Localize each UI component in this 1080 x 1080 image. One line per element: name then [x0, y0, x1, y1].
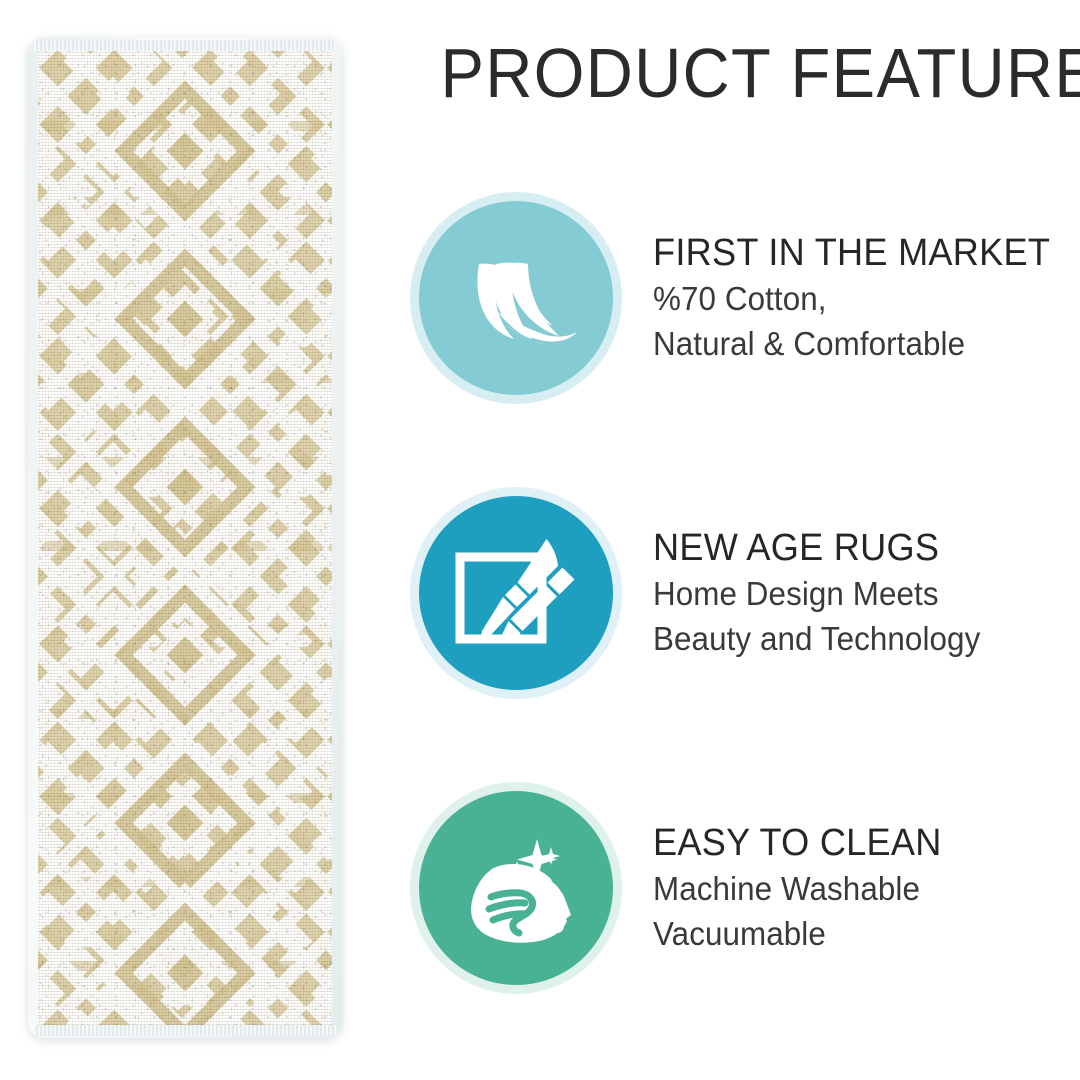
rug-bottom-selvedge — [34, 1025, 336, 1036]
feature-icon-badge-1 — [410, 487, 622, 699]
product-rug-image — [28, 38, 342, 1038]
hand-wiping-cloth-icon — [445, 817, 587, 959]
feature-desc-0-line-1: Natural & Comfortable — [653, 321, 1051, 366]
feature-title-0: FIRST IN THE MARKET — [653, 231, 1051, 276]
rug-top-selvedge — [34, 40, 336, 51]
icon-circle-2 — [419, 791, 613, 985]
feature-desc-1-line-0: Home Design Meets — [653, 571, 1051, 616]
feature-text-1: NEW AGE RUGS Home Design Meets Beauty an… — [653, 526, 1080, 661]
feature-desc-2-line-0: Machine Washable — [653, 866, 1051, 911]
feather-icon — [446, 228, 586, 368]
feature-icon-badge-0 — [410, 192, 622, 404]
feature-desc-1-line-1: Beauty and Technology — [653, 616, 1051, 661]
feature-text-0: FIRST IN THE MARKET %70 Cotton, Natural … — [653, 231, 1080, 366]
rug-border-edge — [28, 38, 342, 1038]
feature-title-1: NEW AGE RUGS — [653, 526, 1051, 571]
feature-item-easy-to-clean: EASY TO CLEAN Machine Washable Vacuumabl… — [396, 782, 1080, 994]
page-title: PRODUCT FEATURES — [441, 36, 1040, 110]
rug-woven-field — [38, 47, 332, 1029]
icon-circle-1 — [419, 496, 613, 690]
feature-desc-0-line-0: %70 Cotton, — [653, 276, 1051, 321]
pencil-brush-design-icon — [450, 527, 582, 659]
feature-icon-badge-2 — [410, 782, 622, 994]
feature-title-2: EASY TO CLEAN — [653, 821, 1051, 866]
rug-yarn-speckle — [38, 47, 332, 1029]
icon-circle-0 — [419, 201, 613, 395]
feature-desc-2-line-1: Vacuumable — [653, 911, 1051, 956]
feature-item-new-age-rugs: NEW AGE RUGS Home Design Meets Beauty an… — [396, 487, 1080, 699]
feature-text-2: EASY TO CLEAN Machine Washable Vacuumabl… — [653, 821, 1080, 956]
features-panel: PRODUCT FEATURES FIRST IN THE MAR — [396, 0, 1080, 1080]
feature-item-first-in-the-market: FIRST IN THE MARKET %70 Cotton, Natural … — [396, 192, 1080, 404]
